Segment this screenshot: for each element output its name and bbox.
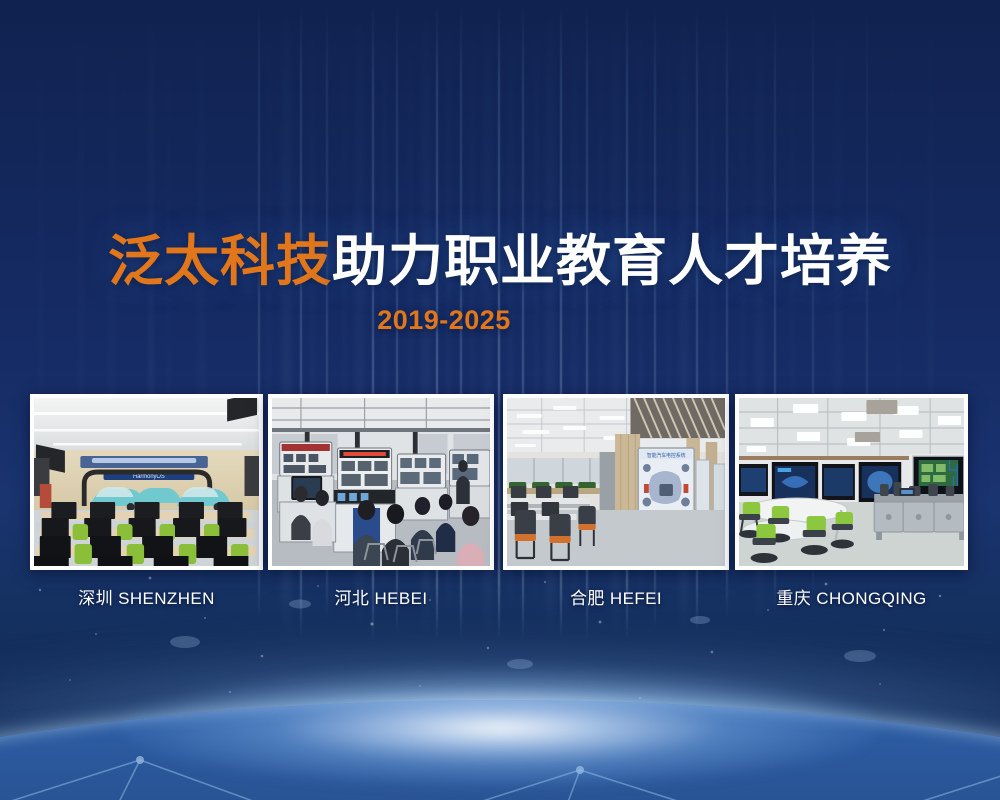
photo-gallery: HarmonyOS — [30, 394, 970, 570]
caption-hefei: 合肥 HEFEI — [503, 584, 729, 609]
photo-card-shenzhen[interactable]: HarmonyOS — [30, 394, 263, 570]
caption-shenzhen: 深圳 SHENZHEN — [30, 584, 263, 609]
year-range: 2019-2025 — [0, 305, 1000, 336]
brand-name: 泛太科技 — [108, 230, 332, 292]
caption-hebei: 河北 HEBEI — [268, 584, 494, 609]
title-tail: 助力职业教育人才培养 — [332, 230, 892, 292]
photo-card-chongqing[interactable] — [735, 394, 968, 570]
light-ray — [40, 0, 42, 420]
photo-shenzhen: HarmonyOS — [34, 398, 259, 566]
gallery-captions: 深圳 SHENZHEN 河北 HEBEI 合肥 HEFEI 重庆 CHONGQI… — [0, 584, 1000, 612]
photo-hefei: 智能汽车电控系统 — [507, 398, 725, 566]
svg-text:HarmonyOS: HarmonyOS — [133, 474, 165, 480]
photo-hebei — [272, 398, 490, 566]
svg-text:智能汽车电控系统: 智能汽车电控系统 — [647, 452, 686, 459]
horizon-glow-core — [120, 668, 880, 788]
photo-card-hefei[interactable]: 智能汽车电控系统 — [503, 394, 729, 570]
page-title: 泛太科技助力职业教育人才培养 — [0, 232, 1000, 291]
poster-canvas: 泛太科技助力职业教育人才培养 2019-2025 — [0, 0, 1000, 800]
photo-card-hebei[interactable] — [268, 394, 494, 570]
caption-chongqing: 重庆 CHONGQING — [735, 584, 968, 609]
photo-chongqing — [739, 398, 964, 566]
